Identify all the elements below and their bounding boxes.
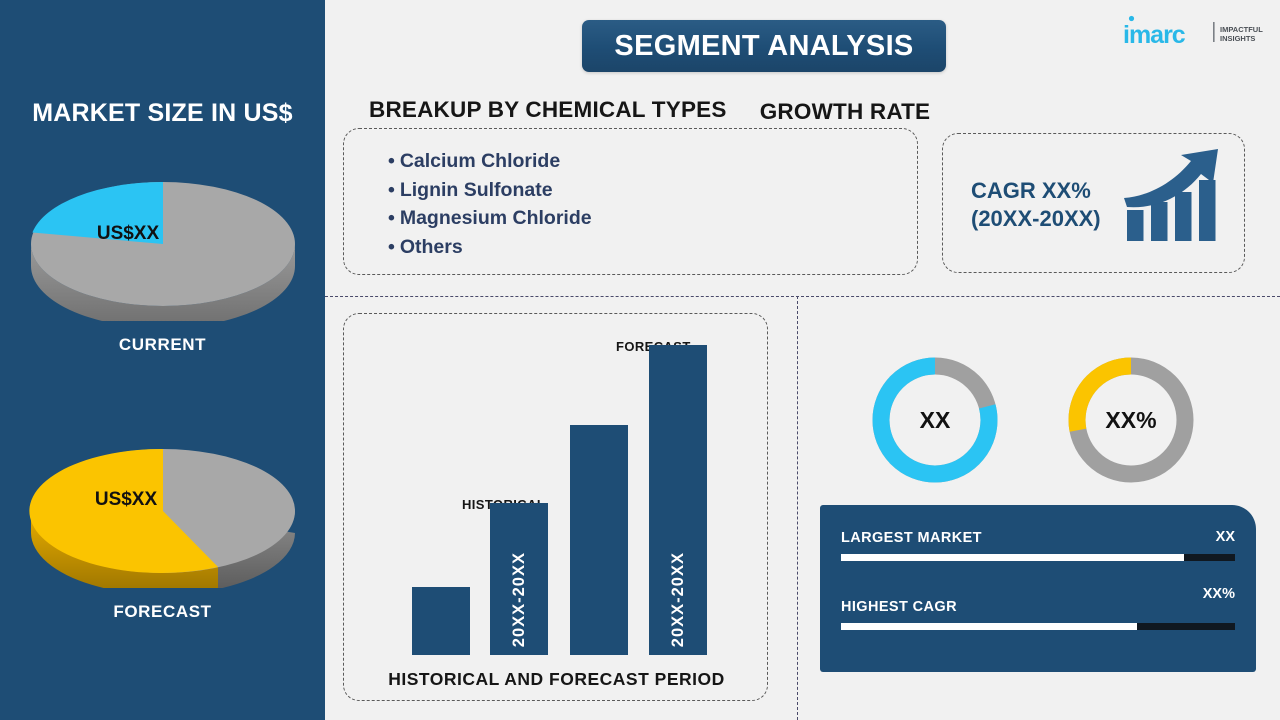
cagr-text: CAGR XX% (20XX-20XX) [971, 177, 1101, 233]
pie-current-svg: US$XX [28, 166, 298, 321]
progress-fill [841, 623, 1137, 630]
pie-current-label: CURRENT [0, 335, 325, 355]
imarc-logo: imarc IMPACTFUL INSIGHTS [1117, 12, 1265, 56]
bar-1 [412, 587, 470, 655]
bar-2-label: 20XX-20XX [510, 552, 529, 647]
bullet-icon: • [388, 179, 395, 201]
stat-value: XX [1216, 529, 1235, 545]
pie-forecast-svg: US$XX [28, 433, 298, 588]
vertical-divider [797, 296, 798, 720]
list-item: •Magnesium Chloride [388, 204, 592, 233]
pie-chart-current: US$XX CURRENT [0, 166, 325, 355]
stat-value: XX% [1203, 586, 1235, 602]
bar-4-label: 20XX-20XX [669, 552, 688, 647]
bar-chart-card: HISTORICAL FORECAST 20XX-20XX 20XX-20XX … [343, 313, 768, 701]
largest-market-donut: XX [867, 352, 1003, 488]
logo-tagline-1: IMPACTFUL [1220, 25, 1263, 34]
page-title: SEGMENT ANALYSIS [582, 20, 946, 72]
progress-track [841, 623, 1235, 630]
list-item-label: Others [400, 236, 463, 258]
breakup-card: •Calcium Chloride •Lignin Sulfonate •Mag… [343, 128, 918, 275]
bullet-icon: • [388, 236, 395, 258]
bar-chart-caption: HISTORICAL AND FORECAST PERIOD [344, 669, 769, 690]
sidebar: MARKET SIZE IN US$ US$XX CURRENT [0, 0, 325, 720]
progress-fill [841, 554, 1184, 561]
growth-rate-heading: GROWTH RATE [670, 99, 1020, 125]
pie-chart-forecast: US$XX FORECAST [0, 433, 325, 622]
pie-forecast-value: US$XX [94, 489, 157, 510]
pie-forecast-label: FORECAST [0, 602, 325, 622]
bar-2: 20XX-20XX [490, 503, 548, 655]
stat-row-highest-cagr: HIGHEST CAGR XX% [841, 598, 1235, 630]
key-stats-panel: LARGEST MARKET XX HIGHEST CAGR XX% [820, 505, 1256, 672]
chemical-types-list: •Calcium Chloride •Lignin Sulfonate •Mag… [388, 147, 592, 261]
pie-current-value: US$XX [96, 223, 159, 244]
growth-arrow-bars-icon [1121, 147, 1225, 247]
logo-tagline-2: INSIGHTS [1220, 34, 1255, 43]
highest-cagr-donut: XX% [1063, 352, 1199, 488]
horizontal-divider [325, 296, 1280, 297]
bullet-icon: • [388, 207, 395, 229]
bar-4: 20XX-20XX [649, 345, 707, 655]
donut-2-value: XX% [1063, 352, 1199, 488]
main-panel: SEGMENT ANALYSIS imarc IMPACTFUL INSIGHT… [325, 0, 1280, 720]
bar-3 [570, 425, 628, 655]
progress-track [841, 554, 1235, 561]
bar-chart: HISTORICAL FORECAST 20XX-20XX 20XX-20XX … [344, 314, 769, 702]
stat-row-largest-market: LARGEST MARKET XX [841, 529, 1235, 561]
sidebar-title: MARKET SIZE IN US$ [0, 99, 325, 128]
list-item: •Others [388, 233, 592, 262]
cagr-line-2: (20XX-20XX) [971, 205, 1101, 233]
list-item-label: Calcium Chloride [400, 150, 560, 172]
svg-text:imarc: imarc [1123, 21, 1186, 49]
list-item-label: Lignin Sulfonate [400, 179, 553, 201]
growth-rate-card: CAGR XX% (20XX-20XX) [942, 133, 1245, 273]
stat-label: LARGEST MARKET [841, 530, 982, 546]
list-item: •Calcium Chloride [388, 147, 592, 176]
cagr-line-1: CAGR XX% [971, 177, 1101, 205]
list-item-label: Magnesium Chloride [400, 207, 592, 229]
list-item: •Lignin Sulfonate [388, 176, 592, 205]
bullet-icon: • [388, 150, 395, 172]
stat-label: HIGHEST CAGR [841, 599, 957, 615]
donut-1-value: XX [867, 352, 1003, 488]
